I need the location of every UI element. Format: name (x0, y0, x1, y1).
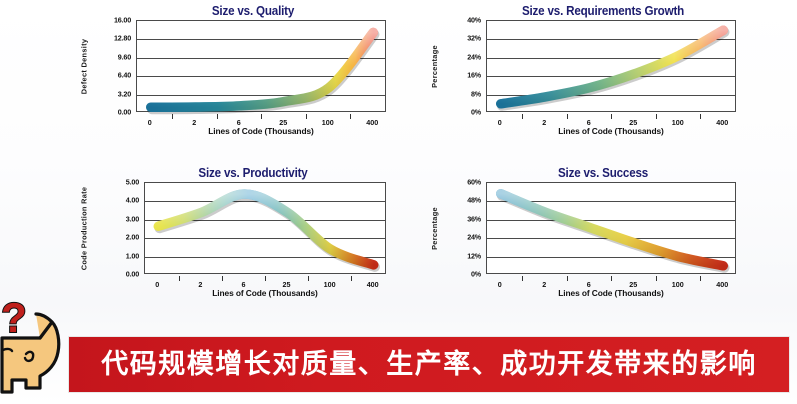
chart-size-vs-success: Size vs. SuccessPercentage0%12%24%36%48%… (428, 166, 778, 324)
chart-body-size-vs-productivity: Code Production Rate0.001.002.003.004.00… (78, 182, 428, 300)
chart-body-size-vs-quality: Defect Density0.003.206.409.6012.8016.00… (78, 20, 428, 138)
y-axis-title-size-vs-productivity: Code Production Rate (78, 182, 90, 274)
y-axis-title-text: Code Production Rate (80, 186, 89, 270)
y-tick-labels-size-vs-quality: 0.003.206.409.6012.8016.00 (100, 20, 134, 112)
y-tick-label: 5.00 (126, 178, 139, 187)
thinking-head-figure: ? (0, 292, 64, 400)
y-tick-label: 4.00 (126, 196, 139, 205)
plot-area-size-vs-productivity (144, 182, 386, 274)
x-tick-mark (172, 114, 173, 119)
svg-text:?: ? (1, 294, 27, 341)
y-tick-label: 0% (471, 108, 481, 117)
y-tick-label: 6.40 (118, 71, 131, 80)
y-tick-label: 24% (467, 233, 481, 242)
x-tick-mark (217, 114, 218, 119)
y-tick-label: 32% (467, 34, 481, 43)
y-tick-label: 36% (467, 214, 481, 223)
y-axis-title-text: Percentage (430, 45, 439, 88)
plot-area-size-vs-quality (136, 20, 386, 112)
y-tick-labels-size-vs-requirements-growth: 0%8%16%24%32%40% (450, 20, 484, 112)
plot-area-size-vs-requirements-growth (486, 20, 736, 112)
plot-area-size-vs-success (486, 182, 736, 274)
x-tick-mark (222, 276, 223, 281)
y-tick-label: 40% (467, 16, 481, 25)
x-tick-mark (522, 114, 523, 119)
x-tick-mark (306, 114, 307, 119)
curve-svg (487, 183, 737, 275)
curve-svg (145, 183, 387, 275)
y-tick-label: 9.60 (118, 52, 131, 61)
x-tick-mark (700, 114, 701, 119)
charts-grid: Size vs. QualityDefect Density0.003.206.… (0, 0, 797, 326)
x-tick-mark (308, 276, 309, 281)
y-tick-label: 1.00 (126, 251, 139, 260)
x-tick-labels-size-vs-success: 02625100400 (486, 276, 736, 288)
caption-banner: 代码规模增长对质量、生产率、成功开发带来的影响 (68, 336, 790, 393)
x-tick-mark (656, 276, 657, 281)
x-axis-title-size-vs-productivity: Lines of Code (Thousands) (144, 288, 386, 298)
chart-size-vs-productivity: Size vs. ProductivityCode Production Rat… (78, 166, 428, 324)
x-tick-mark (265, 276, 266, 281)
y-tick-label: 48% (467, 196, 481, 205)
y-tick-label: 16.00 (114, 16, 131, 25)
curve-svg (137, 21, 387, 113)
y-tick-label: 0.00 (118, 108, 131, 117)
question-mark-icon: ? (1, 294, 27, 341)
y-tick-label: 24% (467, 52, 481, 61)
x-tick-labels-size-vs-requirements-growth: 02625100400 (486, 114, 736, 126)
x-axis-title-size-vs-quality: Lines of Code (Thousands) (136, 126, 386, 136)
y-tick-label: 0% (471, 270, 481, 279)
y-tick-labels-size-vs-success: 0%12%24%36%48%60% (450, 182, 484, 274)
chart-size-vs-quality: Size vs. QualityDefect Density0.003.206.… (78, 4, 428, 162)
y-tick-label: 3.20 (118, 89, 131, 98)
x-tick-mark (611, 114, 612, 119)
x-axis-title-size-vs-requirements-growth: Lines of Code (Thousands) (486, 126, 736, 136)
y-tick-label: 8% (471, 89, 481, 98)
x-tick-mark (350, 114, 351, 119)
x-tick-labels-size-vs-productivity: 02625100400 (144, 276, 386, 288)
chart-size-vs-requirements-growth: Size vs. Requirements GrowthPercentage0%… (428, 4, 778, 162)
chart-title-size-vs-quality: Size vs. Quality (90, 4, 416, 18)
caption-banner-text: 代码规模增长对质量、生产率、成功开发带来的影响 (101, 351, 757, 378)
curve-gloss (501, 30, 724, 104)
y-tick-labels-size-vs-productivity: 0.001.002.003.004.005.00 (108, 182, 142, 274)
x-tick-mark (261, 114, 262, 119)
curve-gloss (151, 33, 374, 108)
y-tick-label: 12% (467, 251, 481, 260)
y-tick-label: 2.00 (126, 233, 139, 242)
curve-gloss (501, 194, 724, 266)
curve-gloss (158, 194, 373, 265)
y-tick-label: 3.00 (126, 214, 139, 223)
x-tick-mark (567, 276, 568, 281)
x-tick-labels-size-vs-quality: 02625100400 (136, 114, 386, 126)
chart-title-size-vs-productivity: Size vs. Productivity (90, 166, 416, 180)
chart-title-size-vs-requirements-growth: Size vs. Requirements Growth (440, 4, 766, 18)
data-curve (501, 30, 724, 104)
x-tick-mark (522, 276, 523, 281)
x-tick-mark (700, 276, 701, 281)
chart-body-size-vs-requirements-growth: Percentage0%8%16%24%32%40%02625100400Lin… (428, 20, 778, 138)
x-tick-mark (656, 114, 657, 119)
y-tick-label: 16% (467, 71, 481, 80)
y-tick-label: 12.80 (114, 34, 131, 43)
y-axis-title-size-vs-requirements-growth: Percentage (428, 20, 440, 112)
x-tick-mark (611, 276, 612, 281)
y-axis-title-size-vs-quality: Defect Density (78, 20, 90, 112)
chart-title-size-vs-success: Size vs. Success (440, 166, 766, 180)
x-axis-title-size-vs-success: Lines of Code (Thousands) (486, 288, 736, 298)
y-axis-title-text: Percentage (430, 207, 439, 250)
y-tick-label: 60% (467, 178, 481, 187)
curve-svg (487, 21, 737, 113)
y-axis-title-text: Defect Density (80, 38, 89, 94)
y-axis-title-size-vs-success: Percentage (428, 182, 440, 274)
x-tick-mark (351, 276, 352, 281)
x-tick-mark (567, 114, 568, 119)
y-tick-label: 0.00 (126, 270, 139, 279)
x-tick-mark (179, 276, 180, 281)
chart-body-size-vs-success: Percentage0%12%24%36%48%60%02625100400Li… (428, 182, 778, 300)
